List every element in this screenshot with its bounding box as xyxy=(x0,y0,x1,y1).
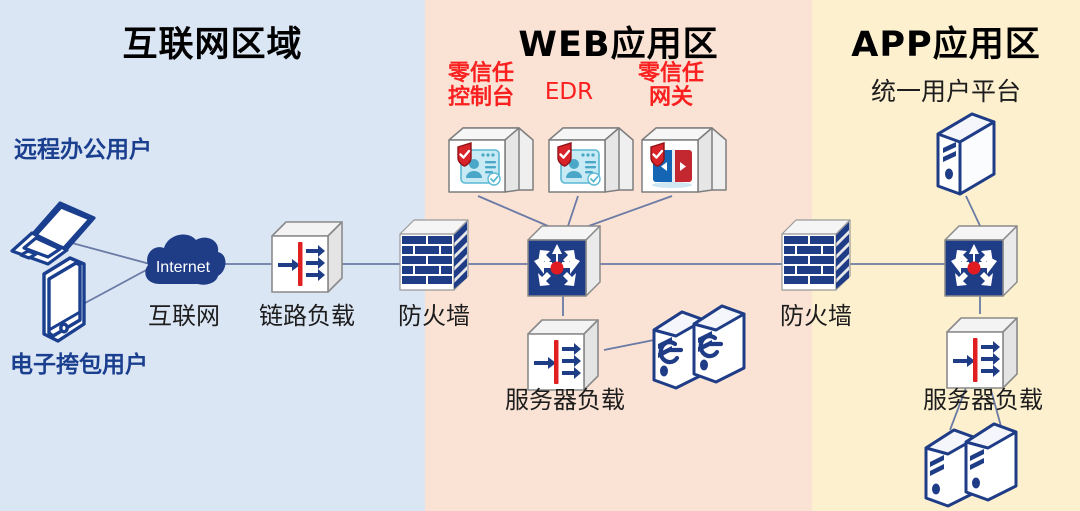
network-switch-icon xyxy=(522,220,608,304)
zone-title-app: APP应用区 xyxy=(812,16,1080,67)
remote-office-users-label: 远程办公用户 xyxy=(14,130,152,164)
mobile-wallet-users-label: 电子挎包用户 xyxy=(10,345,148,379)
id-card-shield-icon xyxy=(558,143,600,185)
app-server-pair-icon xyxy=(920,418,1030,510)
app-server-load-balancer-label: 服务器负载 xyxy=(908,380,1058,415)
internet-label: 互联网 xyxy=(142,296,226,331)
firewall-right-label: 防火墙 xyxy=(768,296,864,331)
web-server-e-icon xyxy=(648,300,758,392)
security-appliance-console-icon xyxy=(441,118,541,198)
zone-title-web: WEB应用区 xyxy=(425,16,812,67)
firewall-brick-right-icon xyxy=(780,218,852,298)
network-switch-app-icon xyxy=(939,220,1025,304)
zero-trust-gateway-label-line1: 零信任 xyxy=(630,62,712,85)
firewall-brick-icon xyxy=(398,218,470,298)
security-appliance-edr-icon xyxy=(541,118,641,198)
link-load-balancer-label: 链路负载 xyxy=(252,296,362,331)
network-architecture-diagram: 互联网区域 WEB应用区 APP应用区 远程办公用户 电子挎包用户 Intern… xyxy=(0,0,1080,511)
firewall-left-label: 防火墙 xyxy=(386,296,482,331)
zero-trust-gateway-label-line2: 网关 xyxy=(630,86,712,109)
zone-title-internet: 互联网区域 xyxy=(0,16,425,67)
app-server-unified-icon xyxy=(932,108,1002,200)
zero-trust-console-label-line1: 零信任 xyxy=(440,62,522,85)
unified-user-platform-label: 统一用户平台 xyxy=(812,72,1080,108)
id-card-shield-icon xyxy=(458,143,500,185)
security-appliance-gateway-icon xyxy=(634,118,734,198)
mobile-phone-icon xyxy=(36,252,92,347)
zero-trust-console-label-line2: 控制台 xyxy=(440,86,522,109)
internet-cloud-icon: Internet xyxy=(142,226,226,294)
load-balancer-icon xyxy=(266,216,348,300)
web-server-load-balancer-label: 服务器负载 xyxy=(492,380,638,415)
cloud-label: Internet xyxy=(156,259,211,276)
edr-label: EDR xyxy=(534,80,604,104)
